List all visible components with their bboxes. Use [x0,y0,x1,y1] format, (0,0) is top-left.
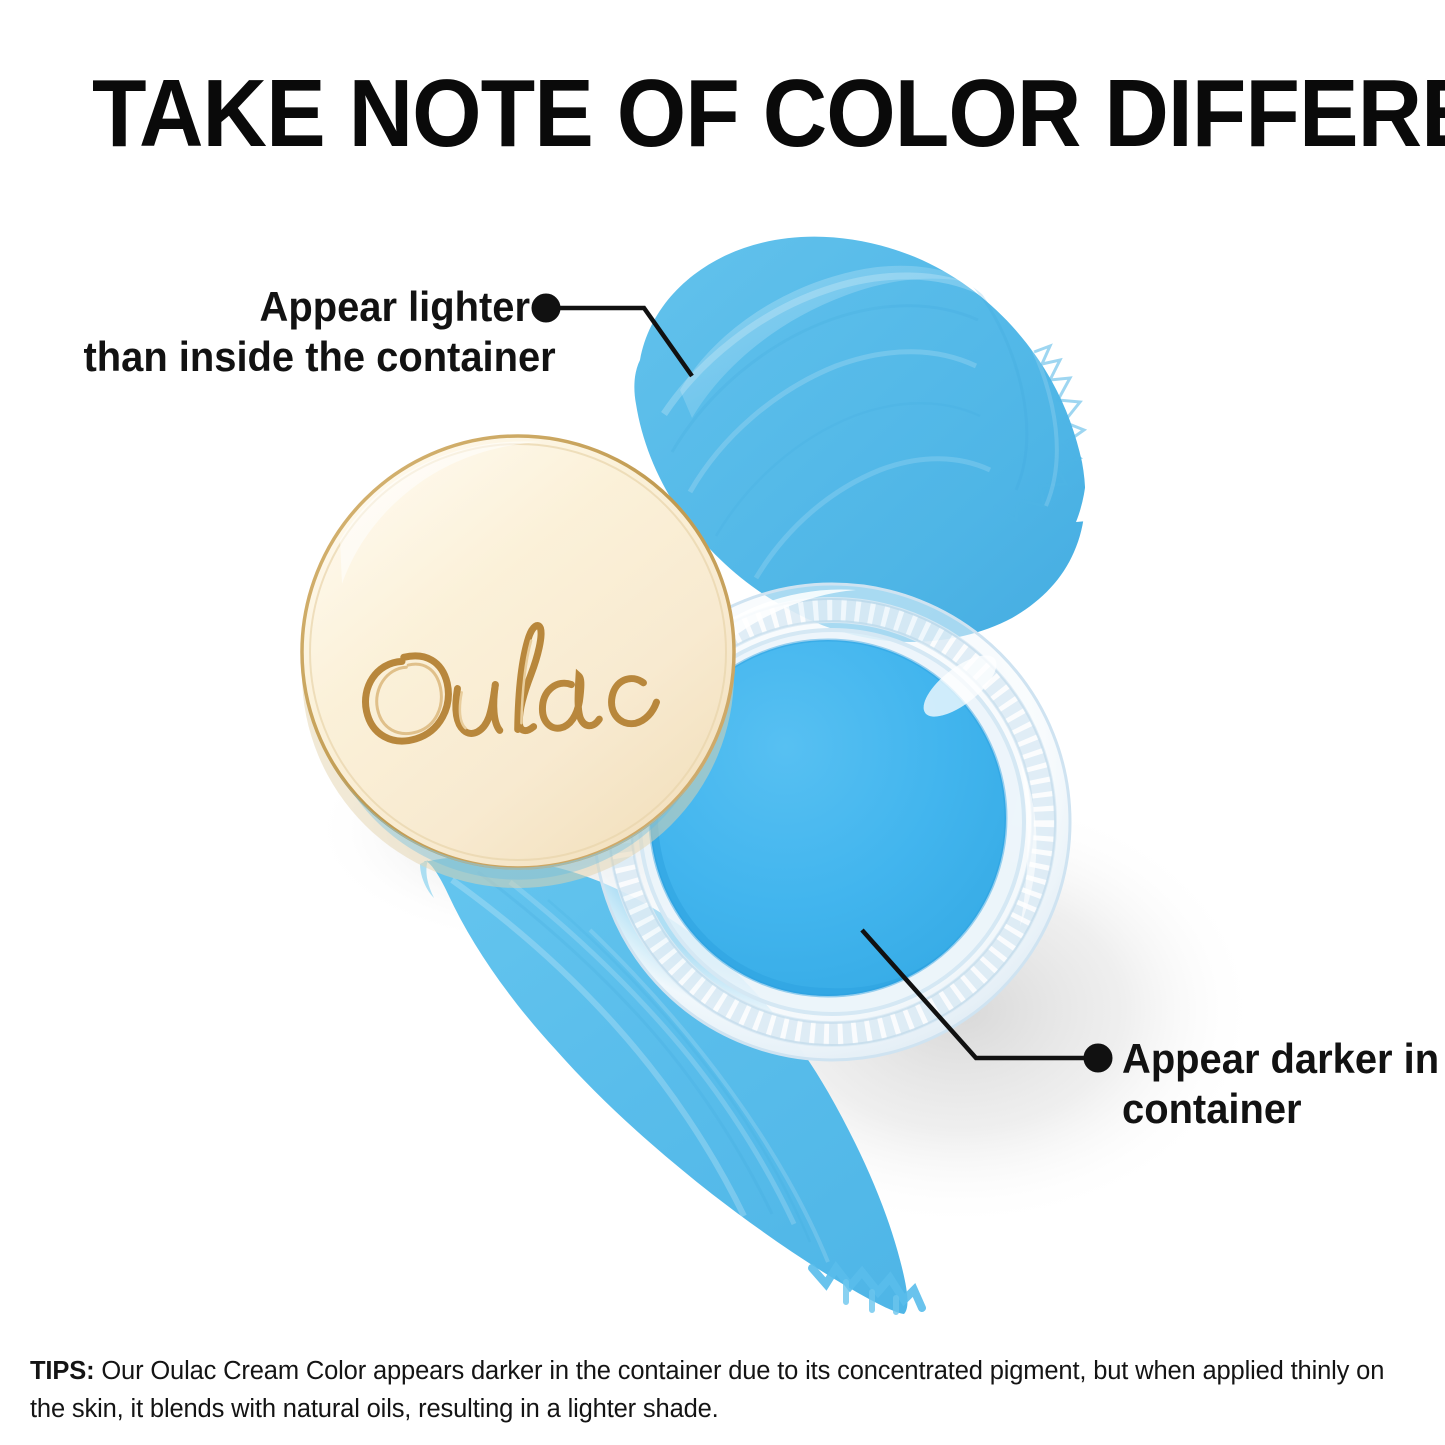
callout-appear-lighter: Appear lighter than inside the container [84,282,531,382]
callout-appear-darker-line2: container [1122,1084,1426,1134]
product-artwork [0,0,1445,1445]
callout-dot-bottom [1084,1044,1112,1072]
callout-appear-lighter-line2: than inside the container [84,332,531,382]
tips-body: Our Oulac Cream Color appears darker in … [30,1357,1384,1423]
callout-appear-lighter-line1: Appear lighter [84,282,531,332]
callout-appear-darker: Appear darker in container [1122,1034,1426,1134]
callout-appear-darker-line1: Appear darker in [1122,1034,1426,1084]
tips-label: TIPS: [30,1357,94,1385]
compact-lid [302,436,734,888]
callout-dot-top [532,294,560,322]
product-infographic: TAKE NOTE OF COLOR DIFFERENCES... [0,0,1445,1445]
tips-footer: TIPS: Our Oulac Cream Color appears dark… [30,1352,1420,1428]
